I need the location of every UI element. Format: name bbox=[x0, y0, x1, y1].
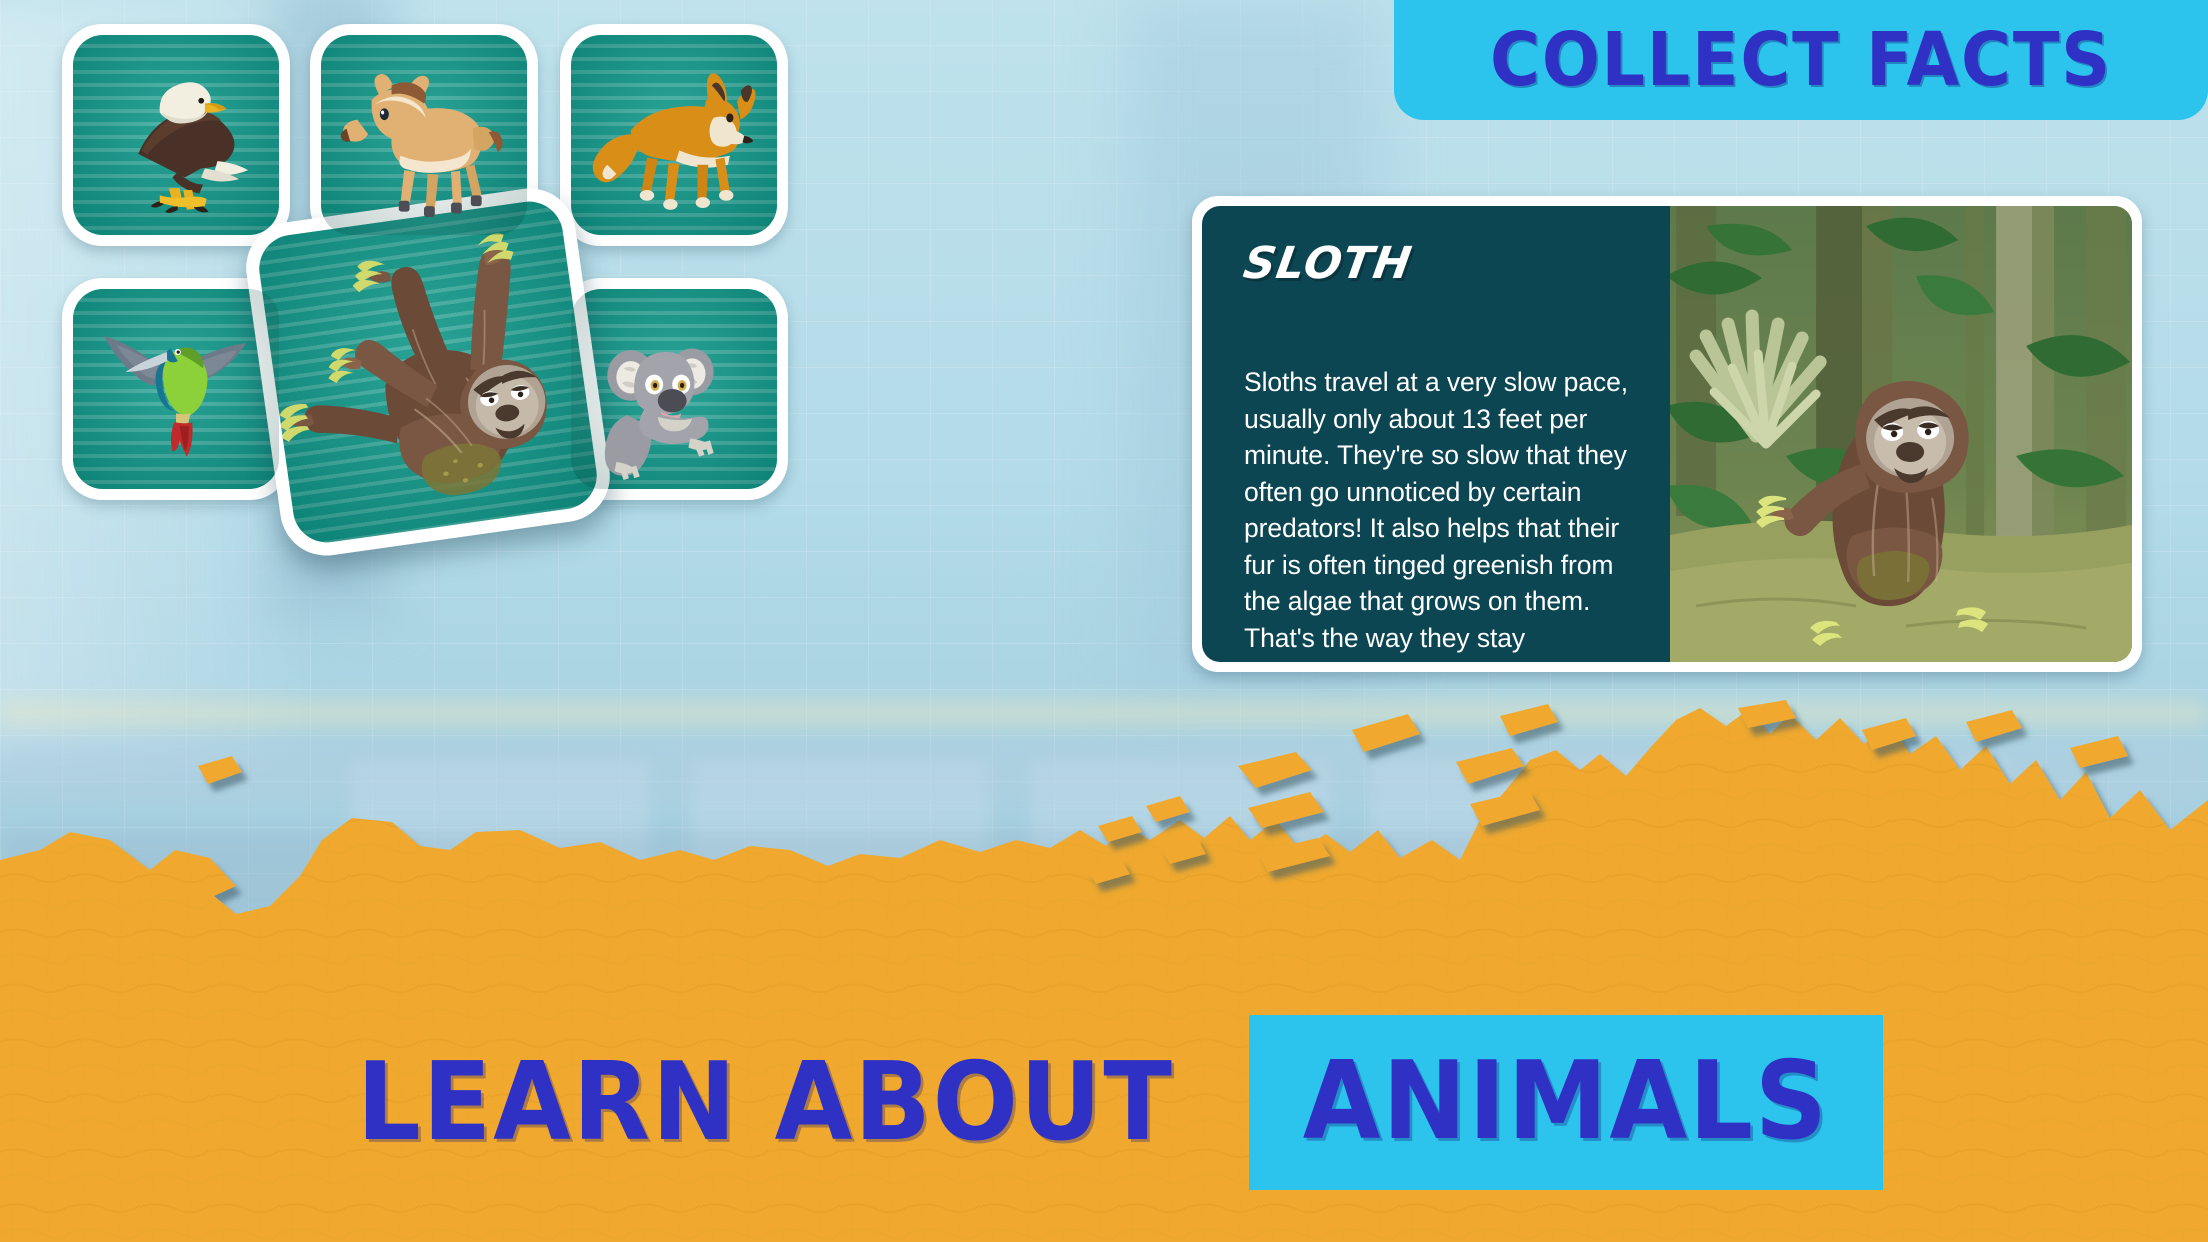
memory-card-koala[interactable] bbox=[560, 278, 788, 500]
collect-facts-label: COLLECT FACTS bbox=[1490, 17, 2112, 103]
hummingbird-icon bbox=[73, 289, 279, 489]
fact-card-body: Sloths travel at a very slow pace, usual… bbox=[1244, 364, 1630, 662]
bottom-title-bar: LEARN ABOUT ANIMALS bbox=[0, 1012, 2208, 1192]
bald-eagle-icon bbox=[73, 35, 279, 235]
koala-icon bbox=[571, 289, 777, 489]
fox-icon bbox=[571, 35, 777, 235]
card-face-teal bbox=[73, 35, 279, 235]
calf-icon bbox=[321, 35, 527, 235]
card-face-teal bbox=[321, 35, 527, 235]
learn-about-label: LEARN ABOUT bbox=[357, 1040, 1202, 1165]
memory-card-calf[interactable] bbox=[310, 24, 538, 246]
memory-card-sloth-selected[interactable] bbox=[240, 183, 616, 562]
memory-card-hummingbird[interactable] bbox=[62, 278, 290, 500]
fact-card-title: SLOTH bbox=[1241, 242, 1634, 286]
sloth-icon bbox=[255, 197, 601, 547]
collect-facts-banner: COLLECT FACTS bbox=[1394, 0, 2208, 120]
memory-card-eagle[interactable] bbox=[62, 24, 290, 246]
card-face-teal bbox=[255, 197, 601, 547]
animals-label: ANIMALS bbox=[1303, 1039, 1829, 1164]
card-face-teal bbox=[571, 289, 777, 489]
card-face-teal bbox=[571, 35, 777, 235]
fact-card-text-pane: SLOTH Sloths travel at a very slow pace,… bbox=[1202, 206, 1670, 662]
fact-card-image bbox=[1670, 206, 2132, 662]
fact-card[interactable]: SLOTH Sloths travel at a very slow pace,… bbox=[1192, 196, 2142, 672]
memory-card-fox[interactable] bbox=[560, 24, 788, 246]
animals-highlight-box: ANIMALS bbox=[1249, 1015, 1883, 1190]
card-face-teal bbox=[73, 289, 279, 489]
